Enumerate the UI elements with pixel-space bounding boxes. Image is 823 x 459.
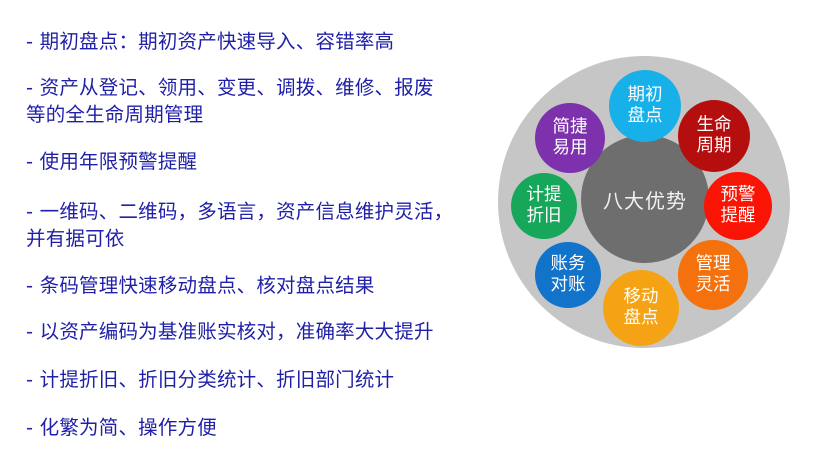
node-line-1: 移动 <box>624 287 659 308</box>
node-account-recon[interactable]: 账务 对账 <box>535 242 601 308</box>
bullet-text: 资产从登记、领用、变更、调拨、维修、报废 等的全生命周期管理 <box>26 76 434 126</box>
bullet-text: 以资产编码为基准账实核对，准确率大大提升 <box>40 320 434 343</box>
eight-advantages-wheel: 八大优势 期初 盘点 生命 周期 预警 提醒 管理 灵活 移动 盘点 账务 <box>498 56 790 356</box>
node-line-2: 周期 <box>697 136 732 157</box>
node-early-warning[interactable]: 预警 提醒 <box>704 172 772 240</box>
bullet-text: 一维码、二维码，多语言，资产信息维护灵活， 并有据可依 <box>26 200 453 250</box>
bullet-dash: - <box>26 76 40 99</box>
node-line-2: 灵活 <box>696 275 731 296</box>
node-line-1: 生命 <box>697 115 732 136</box>
node-line-2: 折旧 <box>527 206 562 227</box>
bullet-text: 化繁为简、操作方便 <box>40 416 217 439</box>
node-line-2: 盘点 <box>624 308 659 329</box>
node-initial-stocktake[interactable]: 期初 盘点 <box>609 70 681 142</box>
wheel-hub-label: 八大优势 <box>603 185 687 214</box>
bullet-dash: - <box>26 200 40 223</box>
bullet-dash: - <box>26 274 40 297</box>
node-depreciation[interactable]: 计提 折旧 <box>511 173 577 239</box>
node-line-2: 提醒 <box>721 206 756 227</box>
bullet-dash: - <box>26 416 40 439</box>
node-line-1: 计提 <box>527 185 562 206</box>
bullet-item: - 使用年限预警提醒 <box>26 148 197 175</box>
bullet-text: 使用年限预警提醒 <box>40 150 198 173</box>
node-life-cycle[interactable]: 生命 周期 <box>678 100 750 172</box>
bullet-text: 条码管理快速移动盘点、核对盘点结果 <box>40 274 375 297</box>
node-line-2: 易用 <box>553 138 588 159</box>
node-line-2: 盘点 <box>628 106 663 127</box>
bullet-item: - 化繁为简、操作方便 <box>26 414 217 441</box>
node-mobile-stocktake[interactable]: 移动 盘点 <box>603 270 679 346</box>
bullet-dash: - <box>26 368 40 391</box>
bullet-item: - 资产从登记、领用、变更、调拨、维修、报废 等的全生命周期管理 <box>26 74 434 128</box>
slide-canvas: - 期初盘点：期初资产快速导入、容错率高 - 资产从登记、领用、变更、调拨、维修… <box>0 0 823 459</box>
node-line-1: 管理 <box>696 254 731 275</box>
bullet-item: - 一维码、二维码，多语言，资产信息维护灵活， 并有据可依 <box>26 198 453 252</box>
bullet-text: 期初盘点：期初资产快速导入、容错率高 <box>40 30 395 53</box>
node-flexible-mgmt[interactable]: 管理 灵活 <box>678 240 748 310</box>
bullet-item: - 计提折旧、折旧分类统计、折旧部门统计 <box>26 366 394 393</box>
node-line-1: 简捷 <box>553 117 588 138</box>
node-line-1: 期初 <box>628 85 663 106</box>
bullet-list: - 期初盘点：期初资产快速导入、容错率高 - 资产从登记、领用、变更、调拨、维修… <box>18 14 490 446</box>
bullet-dash: - <box>26 150 40 173</box>
bullet-item: - 以资产编码为基准账实核对，准确率大大提升 <box>26 318 434 345</box>
node-easy-to-use[interactable]: 简捷 易用 <box>535 103 605 173</box>
bullet-dash: - <box>26 320 40 343</box>
bullet-text: 计提折旧、折旧分类统计、折旧部门统计 <box>40 368 395 391</box>
node-line-2: 对账 <box>551 275 586 296</box>
node-line-1: 预警 <box>721 185 756 206</box>
bullet-item: - 期初盘点：期初资产快速导入、容错率高 <box>26 28 394 55</box>
node-line-1: 账务 <box>551 254 586 275</box>
bullet-item: - 条码管理快速移动盘点、核对盘点结果 <box>26 272 375 299</box>
bullet-dash: - <box>26 30 40 53</box>
